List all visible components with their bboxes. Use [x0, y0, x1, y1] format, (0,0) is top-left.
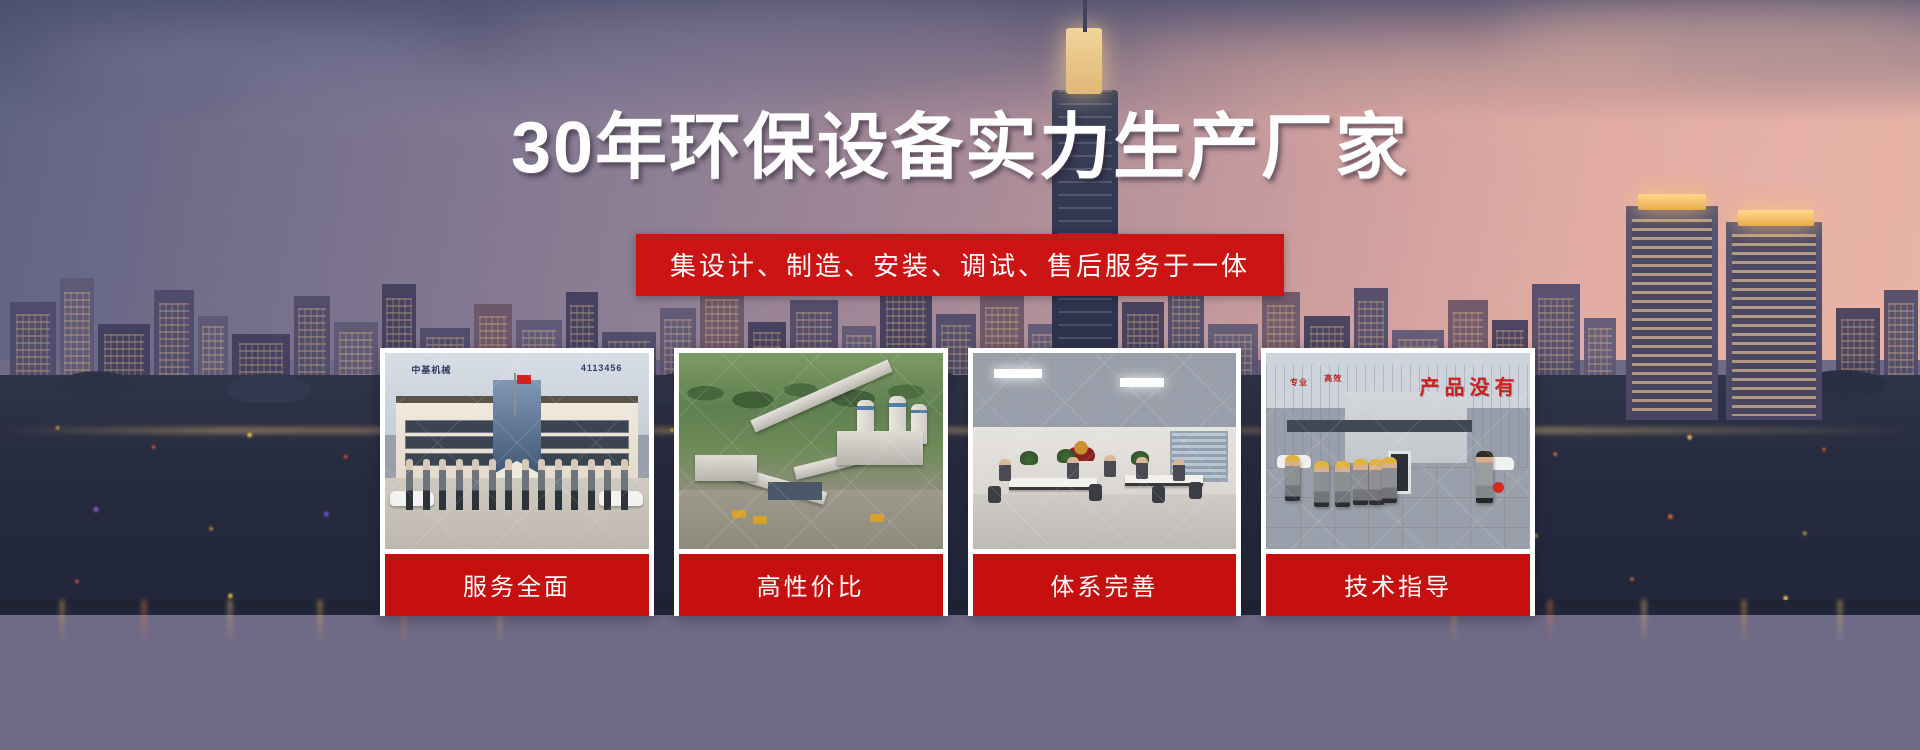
tower-lit-section: [1066, 28, 1102, 94]
card-thumbnail-office-building: 中基机械 4113456: [385, 353, 649, 549]
card-thumbnail-factory-workers: 产品没有 专业 高效: [1266, 353, 1530, 549]
river-water: [0, 600, 1920, 750]
banner-headline: 30年环保设备实力生产厂家: [0, 112, 1920, 184]
banner-subtitle-ribbon: 集设计、制造、安装、调试、售后服务于一体: [636, 234, 1284, 296]
card-label: 体系完善: [973, 554, 1237, 616]
feature-card-row: 中基机械 4113456 服务全面: [380, 348, 1535, 616]
feature-card[interactable]: 体系完善: [968, 348, 1242, 616]
card-label: 服务全面: [385, 554, 649, 616]
tower-crown-light: [1638, 194, 1706, 210]
tower-crown-light: [1738, 210, 1814, 226]
building-phone-number: 4113456: [581, 363, 623, 373]
factory-wall-banner: 产品没有: [1419, 371, 1519, 400]
hero-banner: 30年环保设备实力生产厂家 集设计、制造、安装、调试、售后服务于一体 中基机械 …: [0, 0, 1920, 750]
building-company-sign: 中基机械: [411, 363, 451, 376]
card-label: 技术指导: [1266, 554, 1530, 616]
feature-card[interactable]: 中基机械 4113456 服务全面: [380, 348, 654, 616]
feature-card[interactable]: 产品没有 专业 高效 技术指导: [1261, 348, 1535, 616]
card-thumbnail-office-interior: [973, 353, 1237, 549]
feature-card[interactable]: 高性价比: [674, 348, 948, 616]
card-label: 高性价比: [679, 554, 943, 616]
cloud: [499, 11, 1019, 63]
factory-slogan: 专业: [1290, 377, 1308, 388]
card-thumbnail-industrial-plant: [679, 353, 943, 549]
westin-tower: [1626, 206, 1718, 420]
tower-spire: [1083, 0, 1087, 32]
factory-slogan: 高效: [1324, 373, 1342, 384]
hotel-tower: [1726, 222, 1822, 420]
